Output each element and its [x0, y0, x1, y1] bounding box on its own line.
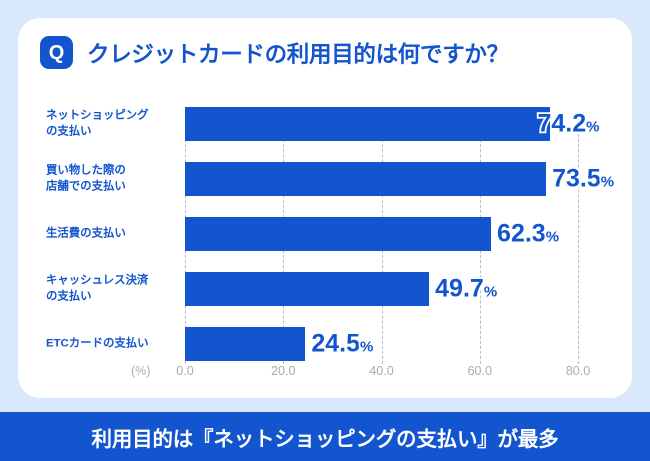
- summary-banner: 利用目的は『ネットショッピングの支払い』が最多: [0, 412, 650, 461]
- value-label: 73.5%: [552, 166, 614, 191]
- x-tick-label: 0.0: [176, 364, 193, 378]
- category-label: ETCカードの支払い: [46, 335, 186, 352]
- value-percent-sign: %: [360, 338, 373, 355]
- x-axis: (%) 0.020.040.060.080.0: [18, 364, 632, 394]
- value-label: 74.2%: [538, 111, 600, 136]
- chart-row: ETCカードの支払い24.5%: [18, 316, 632, 371]
- category-label: キャッシュレス決済 の支払い: [46, 272, 186, 305]
- bar-container: [185, 107, 550, 141]
- question-badge-icon: Q: [40, 36, 73, 69]
- value-percent-sign: %: [601, 173, 614, 190]
- chart-page: Q クレジットカードの利用目的は何ですか？ ネットショッピング の支払い74.2…: [0, 0, 650, 461]
- bar: [185, 217, 491, 251]
- category-label: 生活費の支払い: [46, 225, 186, 242]
- x-tick-label: 40.0: [369, 364, 393, 378]
- x-tick-label: 80.0: [566, 364, 590, 378]
- chart-row: 生活費の支払い62.3%: [18, 206, 632, 261]
- value-percent-sign: %: [484, 283, 497, 300]
- value-label: 24.5%: [311, 331, 373, 356]
- chart-row: キャッシュレス決済 の支払い49.7%: [18, 261, 632, 316]
- chart-header: Q クレジットカードの利用目的は何ですか？: [40, 36, 509, 69]
- summary-banner-text: 利用目的は『ネットショッピングの支払い』が最多: [92, 422, 559, 452]
- bar-container: [185, 162, 546, 196]
- value-label: 62.3%: [497, 221, 559, 246]
- bar-container: [185, 272, 429, 306]
- bar: [185, 327, 305, 361]
- value-percent-sign: %: [586, 118, 599, 135]
- value-percent-sign: %: [546, 228, 559, 245]
- bar-chart: ネットショッピング の支払い74.2%買い物した際の 店舗での支払い73.5%生…: [18, 96, 632, 396]
- chart-row: ネットショッピング の支払い74.2%: [18, 96, 632, 151]
- bar-container: [185, 327, 305, 361]
- chart-card: Q クレジットカードの利用目的は何ですか？ ネットショッピング の支払い74.2…: [18, 18, 632, 398]
- bar: [185, 162, 546, 196]
- chart-rows: ネットショッピング の支払い74.2%買い物した際の 店舗での支払い73.5%生…: [18, 96, 632, 364]
- bar: [185, 272, 429, 306]
- value-label: 49.7%: [435, 276, 497, 301]
- bar: [185, 107, 550, 141]
- chart-row: 買い物した際の 店舗での支払い73.5%: [18, 151, 632, 206]
- category-label: ネットショッピング の支払い: [46, 107, 186, 140]
- x-tick-label: 60.0: [468, 364, 492, 378]
- x-tick-label: 20.0: [271, 364, 295, 378]
- page-title: クレジットカードの利用目的は何ですか？: [87, 37, 509, 69]
- x-axis-unit-label: (%): [131, 364, 150, 378]
- bar-container: [185, 217, 491, 251]
- category-label: 買い物した際の 店舗での支払い: [46, 162, 186, 195]
